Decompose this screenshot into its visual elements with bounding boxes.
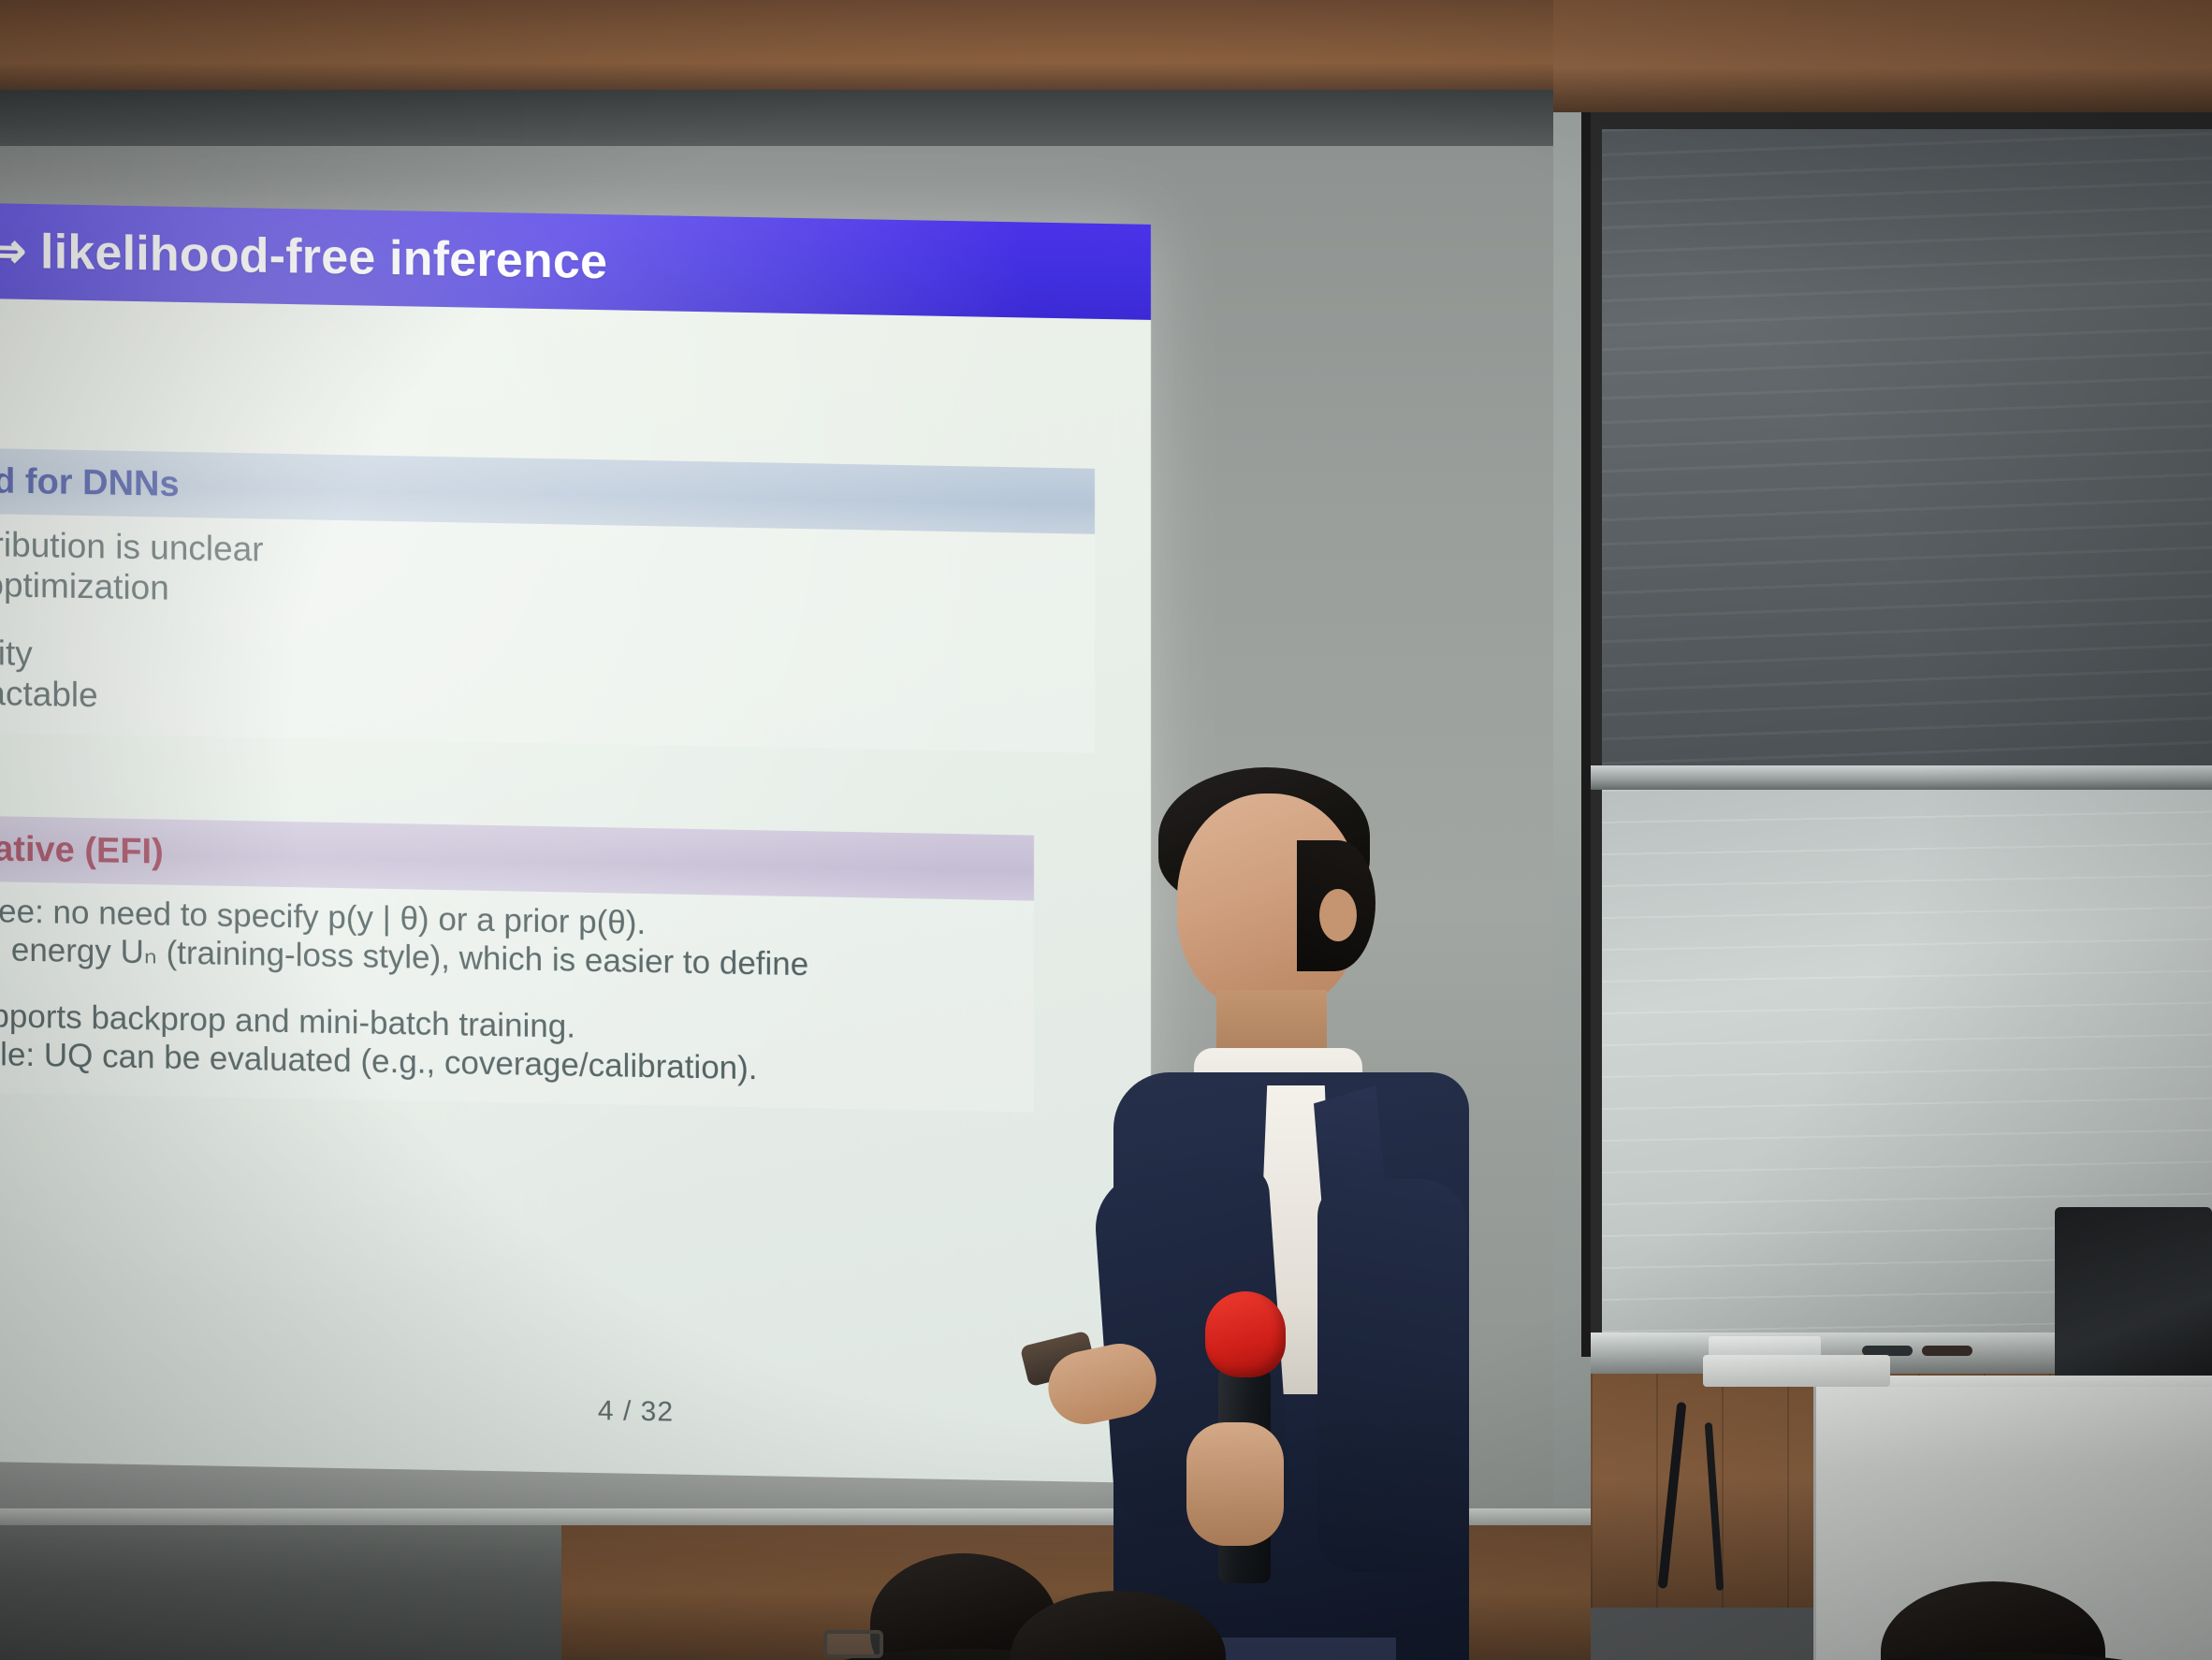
microphone-windscreen	[1205, 1291, 1286, 1377]
wood-trim-top-right	[1553, 0, 2212, 112]
lecture-hall-photo: p ⇒ likelihood-free inference hard for D…	[0, 0, 2212, 1660]
eyeglasses-icon	[823, 1630, 883, 1658]
block-header-label: hard for DNNs	[0, 460, 180, 505]
keyboard	[1703, 1355, 1890, 1387]
slide-block-efi: ernative (EFI) or-free: no need to speci…	[0, 815, 1034, 1113]
projected-slide: p ⇒ likelihood-free inference hard for D…	[0, 202, 1151, 1483]
marker-icon	[1922, 1346, 1972, 1356]
slide-title-text: p ⇒ likelihood-free inference	[0, 222, 607, 290]
arm-left	[1317, 1179, 1467, 1572]
block-body-efi: or-free: no need to specify p(y | θ) or …	[0, 881, 1034, 1113]
hand-holding-microphone	[1186, 1422, 1284, 1546]
slide-page-number: 4 / 32	[598, 1395, 674, 1428]
ceiling-shadow	[0, 90, 1553, 146]
whiteboard-divider-rail	[1591, 765, 2212, 790]
whiteboard-upper	[1602, 129, 2212, 765]
presenter	[1104, 767, 1469, 1660]
slide-block-hard-for-dnns: hard for DNNs distribution is unclear ex…	[0, 447, 1095, 753]
block-body-hard-for-dnns: distribution is unclear ex optimization …	[0, 513, 1095, 753]
ear	[1319, 889, 1357, 941]
block-header-label: ernative (EFI)	[0, 828, 164, 872]
monitor	[2055, 1207, 2212, 1394]
